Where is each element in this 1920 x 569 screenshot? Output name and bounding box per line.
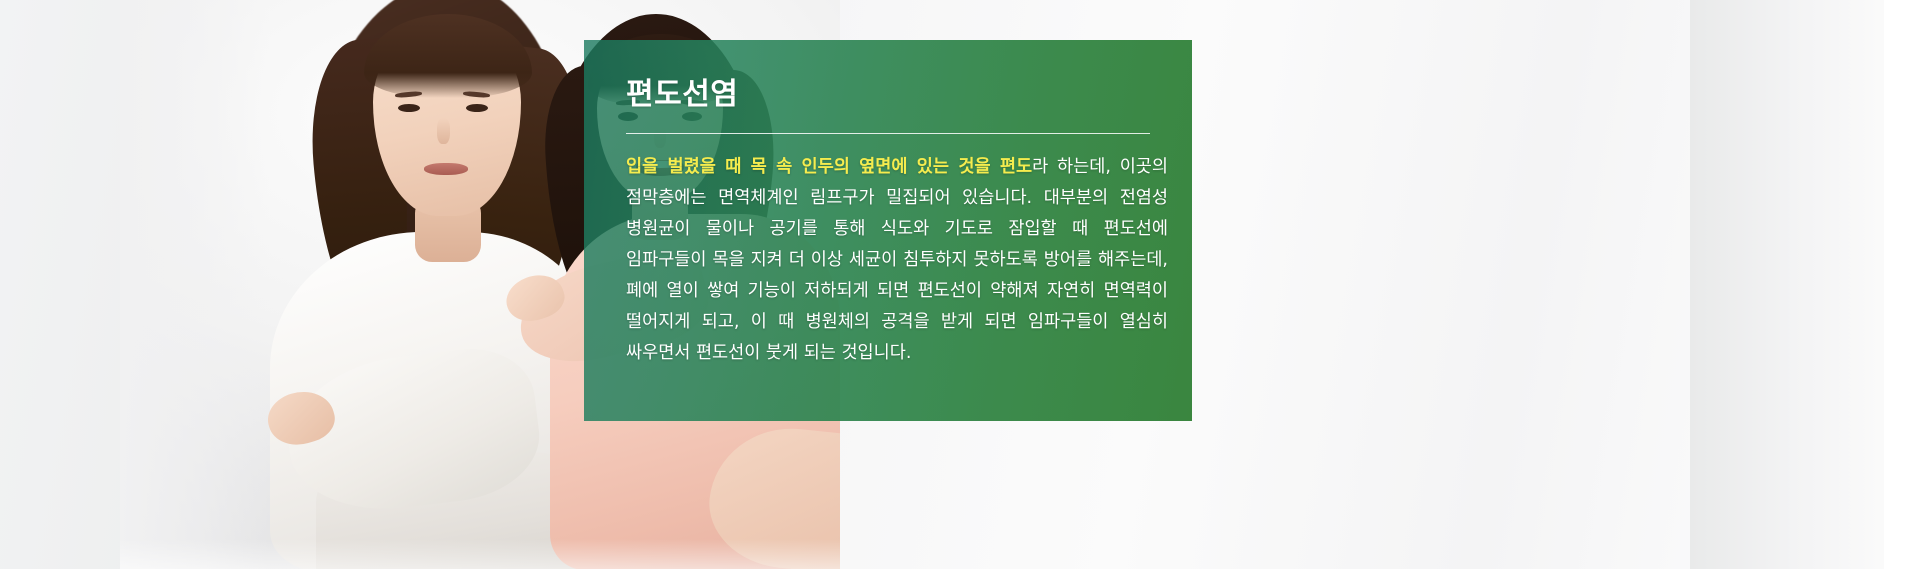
description-paragraph: 입을 벌렸을 때 목 속 인두의 옆면에 있는 것을 편도라 하는데, 이곳의 … xyxy=(626,152,1168,369)
description-rest: 라 하는데, 이곳의 점막층에는 면역체계인 림프구가 밀집되어 있습니다. 대… xyxy=(626,157,1168,363)
content-panel-inner: 편도선염 입을 벌렸을 때 목 속 인두의 옆면에 있는 것을 편도라 하는데,… xyxy=(584,40,1192,421)
page-title: 편도선염 xyxy=(626,78,1174,111)
mother-eye-right xyxy=(466,104,488,112)
mother-mouth xyxy=(424,163,468,175)
photo-left-fade xyxy=(120,0,270,569)
content-panel: 편도선염 입을 벌렸을 때 목 속 인두의 옆면에 있는 것을 편도라 하는데,… xyxy=(584,40,1192,421)
description-highlight: 입을 벌렸을 때 목 속 인두의 옆면에 있는 것을 편도 xyxy=(626,157,1032,177)
background-right-edge xyxy=(1884,0,1920,569)
page-stage: 편도선염 입을 벌렸을 때 목 속 인두의 옆면에 있는 것을 편도라 하는데,… xyxy=(0,0,1920,569)
mother-nose xyxy=(437,118,450,144)
title-divider xyxy=(626,133,1150,134)
photo-bottom-fade xyxy=(120,539,840,569)
mother-eye-left xyxy=(398,104,420,112)
description-text: 입을 벌렸을 때 목 속 인두의 옆면에 있는 것을 편도라 하는데, 이곳의 … xyxy=(626,152,1168,369)
